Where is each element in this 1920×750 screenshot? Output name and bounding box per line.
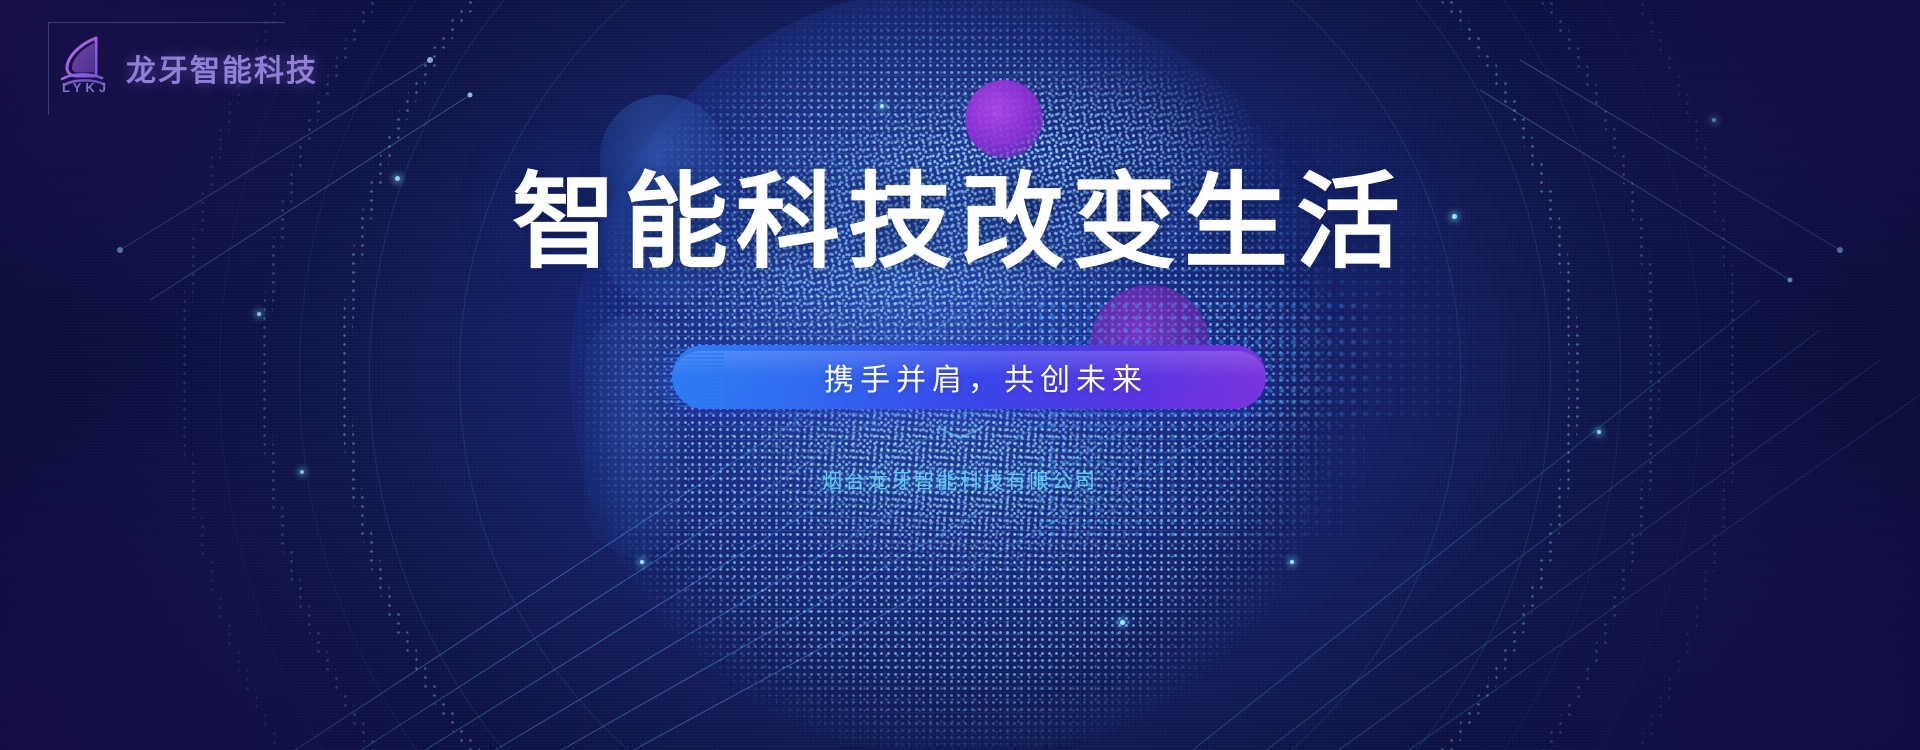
brand-abbr: LYKJ [62, 80, 110, 95]
glow-particle [1290, 560, 1294, 564]
glow-particle [1597, 430, 1601, 434]
globe-purple-accent [965, 80, 1043, 158]
glow-particle [257, 312, 261, 316]
hero-banner: 龙牙智能科技 LYKJ 智能科技改变生活 携手并肩，共创未来 烟台龙牙智能科技有… [0, 0, 1920, 750]
pill-frayed-edge [654, 347, 724, 407]
hero-tagline-banner: 携手并肩，共创未来 [654, 345, 1266, 409]
hero-headline: 智能科技改变生活 [0, 168, 1920, 278]
glow-particle [880, 104, 884, 108]
company-caption: 烟台龙牙智能科技有限公司 [0, 465, 1920, 494]
chevron-down-icon [937, 425, 983, 441]
brand-name-cn: 龙牙智能科技 [126, 46, 318, 90]
glow-particle [1712, 118, 1716, 122]
glow-particle [1120, 620, 1125, 625]
tagline-text: 携手并肩，共创未来 [790, 355, 1148, 399]
glow-particle [640, 560, 644, 564]
tagline-pill: 携手并肩，共创未来 [672, 345, 1266, 409]
brand-logo[interactable]: 龙牙智能科技 LYKJ [56, 30, 316, 110]
